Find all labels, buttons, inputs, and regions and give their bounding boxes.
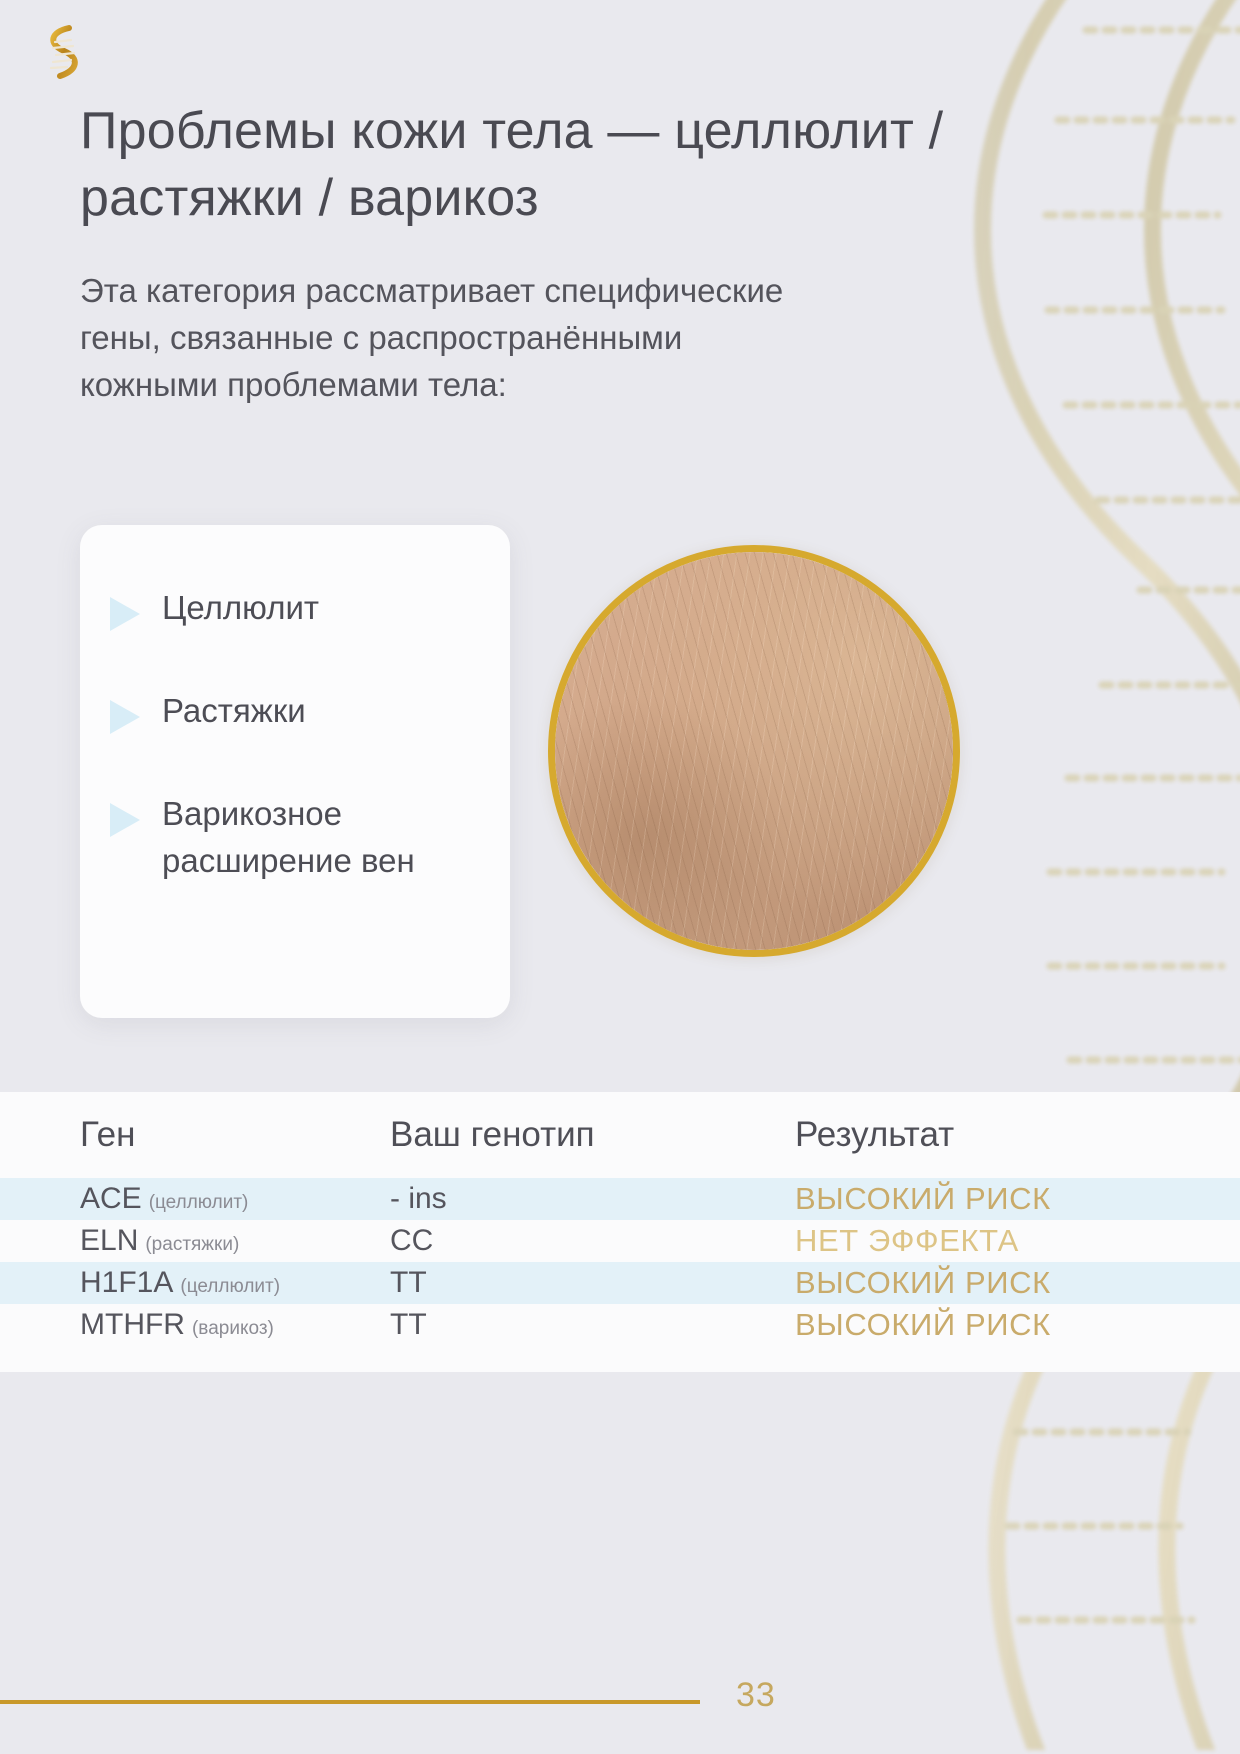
triangle-right-icon — [110, 597, 140, 631]
cell-result: НЕТ ЭФФЕКТА — [795, 1223, 1240, 1259]
table-bottom-spacer — [0, 1346, 1240, 1372]
dna-helix-icon — [36, 22, 88, 84]
cell-genotype: - ins — [390, 1182, 795, 1216]
skin-closeup-photo — [548, 545, 960, 957]
gene-name: MTHFR — [80, 1308, 185, 1341]
table-row: ACE(целлюлит) - ins ВЫСОКИЙ РИСК — [0, 1178, 1240, 1220]
cell-genotype: TT — [390, 1266, 795, 1300]
gene-name: H1F1A — [80, 1266, 173, 1299]
intro-paragraph: Эта категория рассматривает специфически… — [80, 268, 800, 409]
triangle-right-icon — [110, 803, 140, 837]
gene-note: (целлюлит) — [180, 1276, 280, 1297]
triangle-right-icon — [110, 700, 140, 734]
gene-name: ACE — [80, 1182, 142, 1215]
column-header-gene: Ген — [80, 1115, 390, 1155]
list-item-label: Целлюлит — [162, 585, 319, 632]
cell-result: ВЫСОКИЙ РИСК — [795, 1181, 1240, 1217]
list-item: Варикозное расширение вен — [110, 791, 476, 885]
cell-genotype: CC — [390, 1224, 795, 1258]
slide-page: Проблемы кожи тела — целлюлит / растяжки… — [0, 0, 1240, 1754]
cell-gene: MTHFR(варикоз) — [80, 1308, 390, 1342]
conditions-card: Целлюлит Растяжки Варикозное расширение … — [80, 525, 510, 1018]
cell-genotype: TT — [390, 1308, 795, 1342]
list-item: Растяжки — [110, 688, 476, 735]
skin-texture — [555, 552, 953, 950]
genotype-results-table: Ген Ваш генотип Результат ACE(целлюлит) … — [0, 1092, 1240, 1372]
cell-gene: ACE(целлюлит) — [80, 1182, 390, 1216]
page-title: Проблемы кожи тела — целлюлит / растяжки… — [80, 98, 960, 231]
gene-note: (растяжки) — [145, 1234, 239, 1255]
table-row: MTHFR(варикоз) TT ВЫСОКИЙ РИСК — [0, 1304, 1240, 1346]
table-row: ELN(растяжки) CC НЕТ ЭФФЕКТА — [0, 1220, 1240, 1262]
gene-note: (целлюлит) — [149, 1192, 249, 1213]
list-item-label: Растяжки — [162, 688, 306, 735]
gene-note: (варикоз) — [192, 1318, 274, 1339]
column-header-genotype: Ваш генотип — [390, 1115, 795, 1155]
gene-name: ELN — [80, 1224, 138, 1257]
table-row: H1F1A(целлюлит) TT ВЫСОКИЙ РИСК — [0, 1262, 1240, 1304]
page-number: 33 — [736, 1676, 776, 1715]
table-header-row: Ген Ваш генотип Результат — [0, 1092, 1240, 1178]
cell-gene: H1F1A(целлюлит) — [80, 1266, 390, 1300]
cell-gene: ELN(растяжки) — [80, 1224, 390, 1258]
list-item: Целлюлит — [110, 585, 476, 632]
cell-result: ВЫСОКИЙ РИСК — [795, 1307, 1240, 1343]
list-item-label: Варикозное расширение вен — [162, 791, 476, 885]
column-header-result: Результат — [795, 1115, 1240, 1155]
footer-rule — [0, 1700, 700, 1704]
cell-result: ВЫСОКИЙ РИСК — [795, 1265, 1240, 1301]
